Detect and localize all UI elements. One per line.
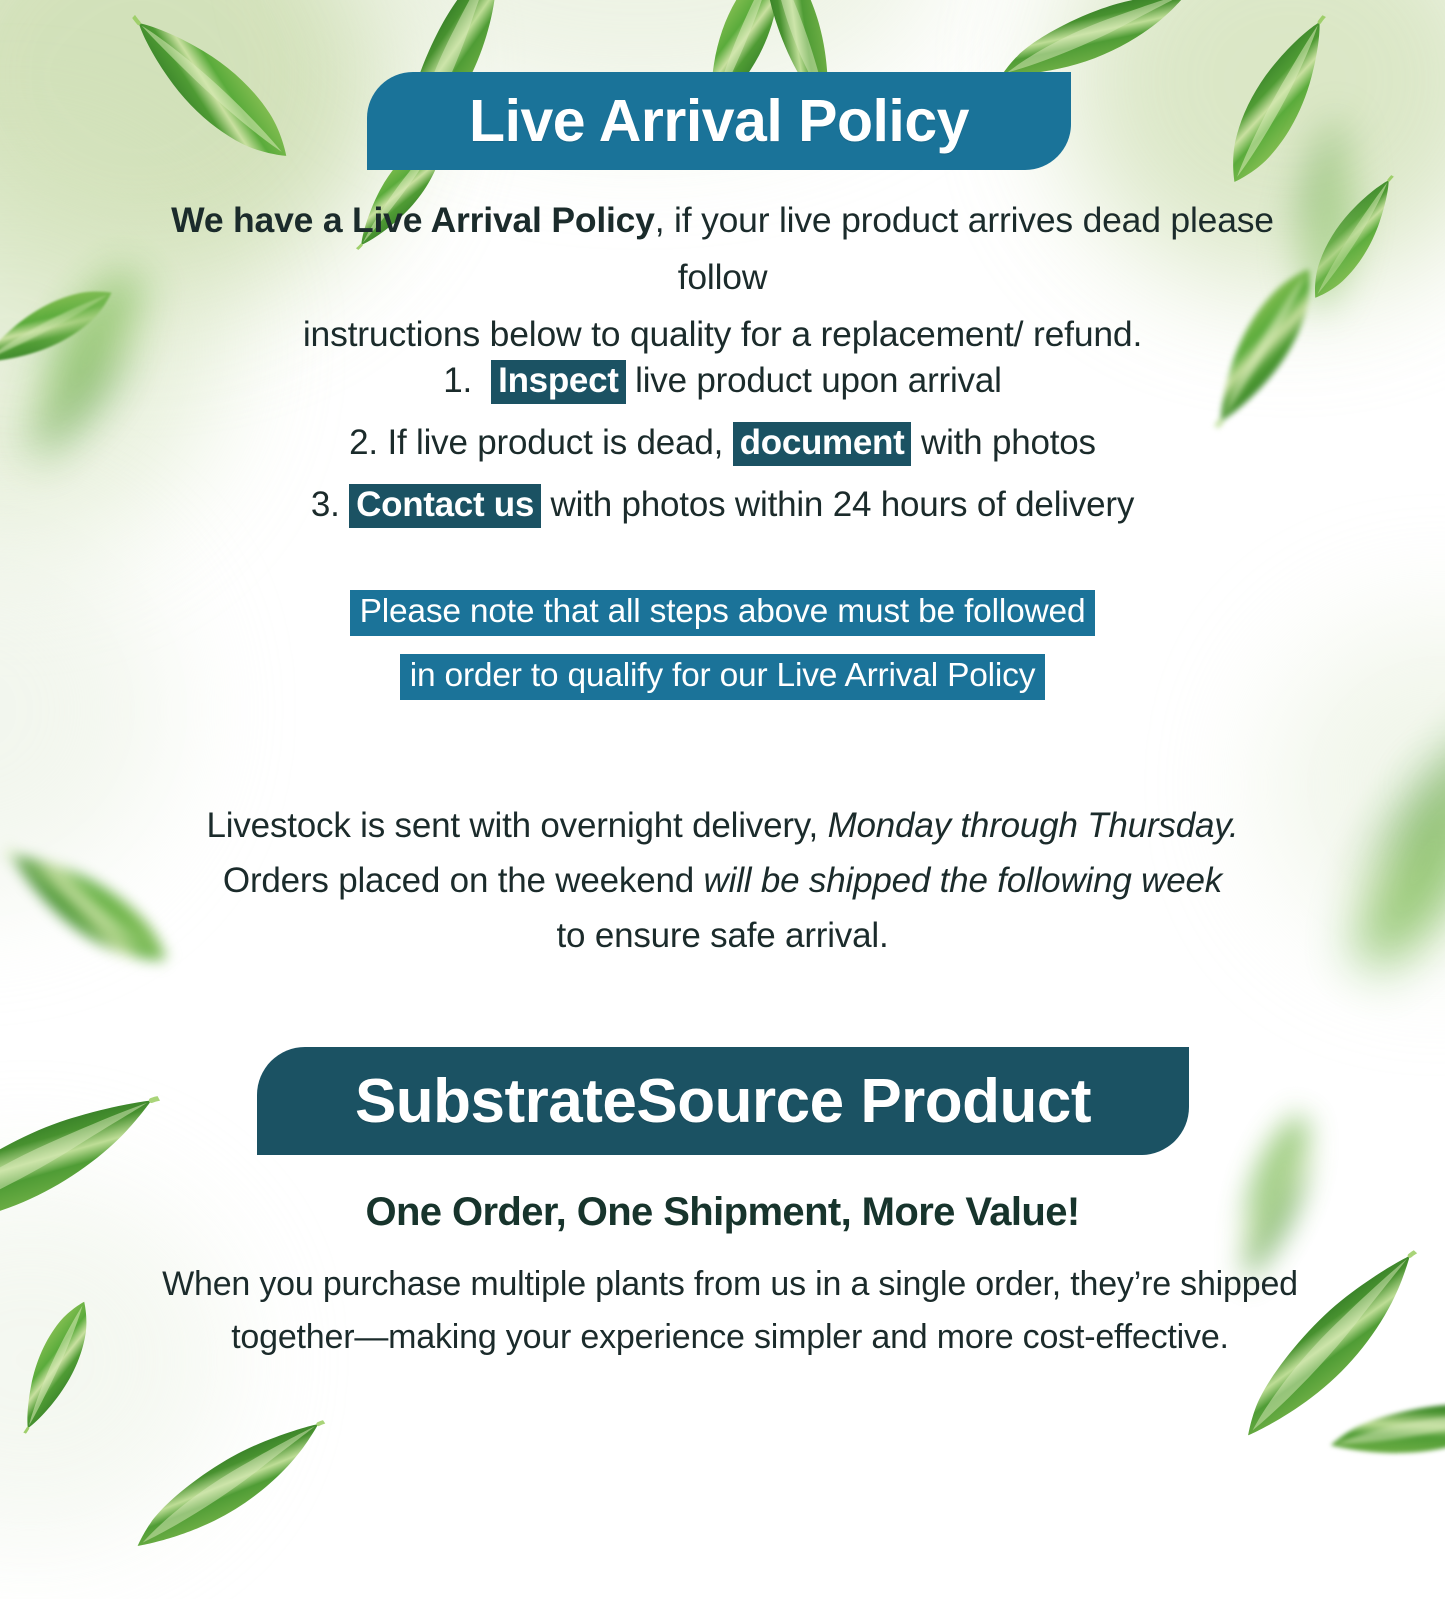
- product-subheading: One Order, One Shipment, More Value!: [150, 1190, 1295, 1235]
- policy-note-line-2-wrap: in order to qualify for our Live Arrival…: [150, 644, 1295, 708]
- step-3-text-after: with photos within 24 hours of delivery: [541, 485, 1134, 524]
- shipping-line-1-italic: Monday through Thursday.: [828, 806, 1239, 845]
- step-item-2: 2. If live product is dead, document wit…: [150, 412, 1295, 474]
- shipping-line-1: Livestock is sent with overnight deliver…: [150, 798, 1295, 853]
- step-3-highlight-contact-us: Contact us: [349, 484, 541, 528]
- live-arrival-policy-title: Live Arrival Policy: [469, 87, 969, 155]
- product-description-line-2: together—making your experience simpler …: [150, 1311, 1310, 1364]
- step-item-3: 3. Contact us with photos within 24 hour…: [150, 474, 1295, 536]
- step-2-text-after: with photos: [911, 423, 1095, 462]
- intro-line-1: We have a Live Arrival Policy, if your l…: [150, 192, 1295, 306]
- step-2-text-before: If live product is dead,: [378, 423, 733, 462]
- step-1-highlight-inspect: Inspect: [491, 360, 625, 404]
- policy-note-line-1: Please note that all steps above must be…: [350, 590, 1096, 636]
- step-1-text-after: live product upon arrival: [626, 361, 1002, 400]
- substratesource-product-banner: SubstrateSource Product: [257, 1047, 1189, 1155]
- step-1-number: 1.: [443, 361, 472, 400]
- shipping-line-1-text: Livestock is sent with overnight deliver…: [207, 806, 828, 845]
- step-3-text-before: [340, 485, 350, 524]
- policy-note-line-2: in order to qualify for our Live Arrival…: [400, 654, 1046, 700]
- shipping-line-3: to ensure safe arrival.: [150, 908, 1295, 963]
- product-description: When you purchase multiple plants from u…: [150, 1258, 1310, 1364]
- policy-note-block: Please note that all steps above must be…: [150, 580, 1295, 708]
- product-description-line-1: When you purchase multiple plants from u…: [150, 1258, 1310, 1311]
- step-2-number: 2.: [349, 423, 378, 462]
- shipping-line-2-italic: will be shipped the following week: [704, 861, 1223, 900]
- live-arrival-policy-banner: Live Arrival Policy: [367, 72, 1071, 170]
- step-2-highlight-document: document: [733, 422, 912, 466]
- steps-list: 1. Inspect live product upon arrival 2. …: [150, 350, 1295, 536]
- intro-lead-bold: We have a Live Arrival Policy: [171, 200, 655, 240]
- shipping-line-2-text: Orders placed on the weekend: [223, 861, 704, 900]
- shipping-schedule-paragraph: Livestock is sent with overnight deliver…: [150, 798, 1295, 963]
- intro-line-1-rest: , if your live product arrives dead plea…: [655, 200, 1274, 297]
- intro-paragraph: We have a Live Arrival Policy, if your l…: [150, 192, 1295, 363]
- step-item-1: 1. Inspect live product upon arrival: [150, 350, 1295, 412]
- step-3-number: 3.: [311, 485, 340, 524]
- policy-infographic: Live Arrival Policy We have a Live Arriv…: [0, 0, 1445, 1445]
- shipping-line-2: Orders placed on the weekend will be shi…: [150, 853, 1295, 908]
- policy-note-line-1-wrap: Please note that all steps above must be…: [150, 580, 1295, 644]
- substratesource-product-title: SubstrateSource Product: [355, 1066, 1091, 1137]
